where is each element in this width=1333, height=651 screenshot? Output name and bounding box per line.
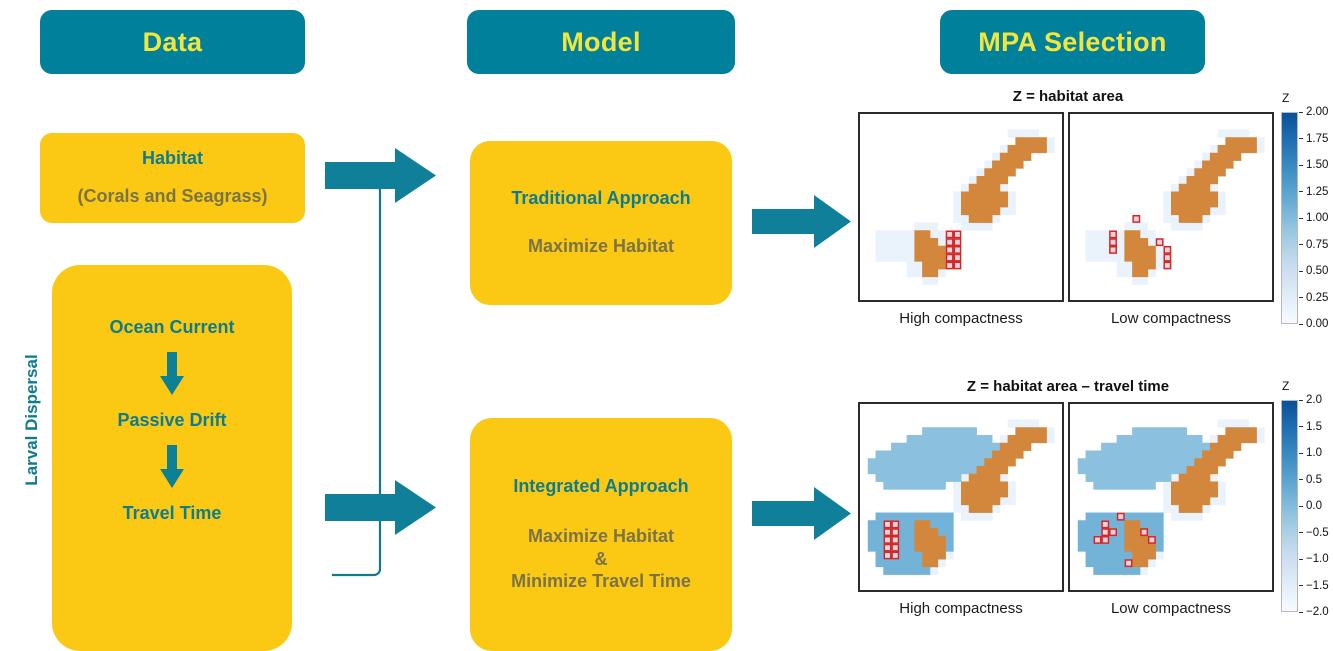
habitat-cell-grid [1070,404,1272,590]
traditional-approach-objective: Maximize Habitat [528,235,674,258]
integrated-objective-line-1: Maximize Habitat [511,525,691,548]
colorbar-tick: 1.75 [1299,133,1328,145]
column-header-model-label: Model [561,27,641,58]
top-colorbar: Z 0.000.250.500.751.001.251.501.752.00 [1281,112,1298,324]
colorbar-tick: 0.0 [1299,500,1322,512]
habitat-cell-grid [860,404,1062,590]
colorbar-tick: 0.75 [1299,239,1328,251]
top-colorbar-label: Z [1282,91,1289,105]
caption-bottom-high: High compactness [858,600,1064,617]
top-figure-title: Z = habitat area [858,88,1278,105]
colorbar-tick: −2.0 [1299,606,1329,618]
arrow-data-to-integrated [325,480,437,538]
caption-top-high: High compactness [858,310,1064,327]
bottom-colorbar: Z −2.0−1.5−1.0−0.50.00.51.01.52.0 [1281,400,1298,612]
column-header-mpa-selection: MPA Selection [940,10,1205,74]
larval-dispersal-card: Ocean Current Passive Drift Travel Time [52,265,292,651]
map-panel-top-high-compactness[interactable] [858,112,1064,302]
colorbar-tick: 0.5 [1299,474,1322,486]
map-panel-bottom-high-compactness[interactable] [858,402,1064,592]
top-figure-panels [858,112,1278,302]
top-colorbar-ticks: 0.000.250.500.751.001.251.501.752.00 [1299,112,1333,324]
bottom-colorbar-label: Z [1282,379,1289,393]
habitat-card-subtitle: (Corals and Seagrass) [77,185,267,208]
colorbar-tick: −0.5 [1299,527,1329,539]
flow-step-passive-drift: Passive Drift [117,410,226,431]
bottom-map-figure: Z = habitat area – travel time High comp… [858,378,1278,617]
down-arrow-icon-2 [159,445,185,489]
bottom-colorbar-ticks: −2.0−1.5−1.0−0.50.00.51.01.52.0 [1299,400,1333,612]
arrow-data-to-traditional [325,148,437,206]
bottom-figure-captions: High compactness Low compactness [858,600,1278,617]
colorbar-tick: 1.5 [1299,421,1322,433]
arrow-integrated-to-map [752,487,852,543]
colorbar-tick: 1.50 [1299,159,1328,171]
integrated-approach-card: Integrated Approach Maximize Habitat & M… [470,418,732,651]
habitat-data-card: Habitat (Corals and Seagrass) [40,133,305,223]
traditional-approach-title: Traditional Approach [511,188,690,209]
top-map-figure: Z = habitat area High compactness Low co… [858,88,1278,327]
colorbar-tick: 1.25 [1299,186,1328,198]
flow-step-travel-time: Travel Time [123,503,222,524]
larval-dispersal-side-label: Larval Dispersal [22,340,42,500]
integrated-objective-line-3: Minimize Travel Time [511,570,691,593]
traditional-approach-card: Traditional Approach Maximize Habitat [470,141,732,305]
top-colorbar-gradient [1281,112,1298,324]
colorbar-tick: 0.25 [1299,292,1328,304]
integrated-objective-line-2: & [511,548,691,571]
integrated-approach-title: Integrated Approach [513,476,688,497]
colorbar-tick: 2.00 [1299,106,1328,118]
colorbar-tick: −1.0 [1299,553,1329,565]
colorbar-tick: −1.5 [1299,580,1329,592]
bottom-figure-panels [858,402,1278,592]
column-header-data: Data [40,10,305,74]
caption-top-low: Low compactness [1068,310,1274,327]
colorbar-tick: 2.0 [1299,394,1322,406]
column-header-data-label: Data [143,27,203,58]
habitat-cell-grid [860,114,1062,300]
colorbar-tick: 1.0 [1299,447,1322,459]
arrow-traditional-to-map [752,195,852,251]
figure-canvas: Data Model MPA Selection Habitat (Corals… [0,0,1333,651]
colorbar-tick: 0.50 [1299,265,1328,277]
caption-bottom-low: Low compactness [1068,600,1274,617]
habitat-cell-grid [1070,114,1272,300]
top-figure-captions: High compactness Low compactness [858,310,1278,327]
colorbar-tick: 1.00 [1299,212,1328,224]
map-panel-top-low-compactness[interactable] [1068,112,1274,302]
column-header-mpa-label: MPA Selection [978,27,1166,58]
bottom-colorbar-gradient [1281,400,1298,612]
habitat-card-title: Habitat [142,148,203,169]
bottom-figure-title: Z = habitat area – travel time [858,378,1278,395]
integrated-approach-objective: Maximize Habitat & Minimize Travel Time [511,525,691,593]
flow-step-ocean-current: Ocean Current [109,317,234,338]
map-panel-bottom-low-compactness[interactable] [1068,402,1274,592]
column-header-model: Model [467,10,735,74]
down-arrow-icon-1 [159,352,185,396]
colorbar-tick: 0.00 [1299,318,1328,330]
